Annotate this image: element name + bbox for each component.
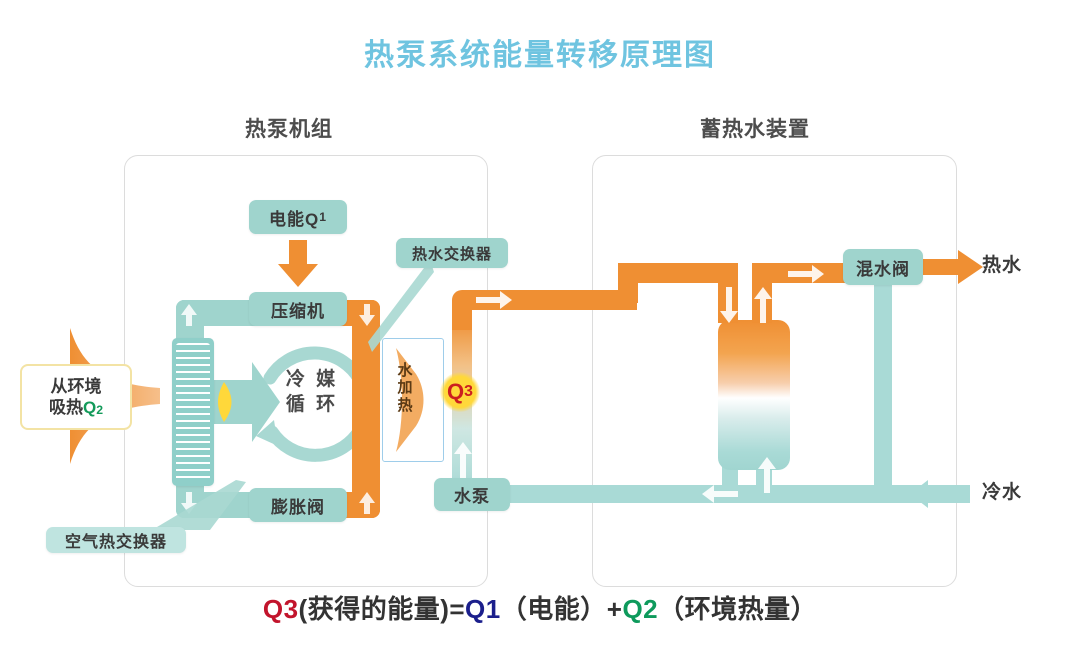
refrigerant-flow-arrow-top-left xyxy=(178,302,200,328)
hot-water-flow-arrow-2 xyxy=(786,262,826,286)
page-title: 热泵系统能量转移原理图 xyxy=(0,30,1080,74)
hot-water-exchanger-callout-line xyxy=(366,258,436,354)
formula-q2-paren: （环境热量） xyxy=(658,594,817,624)
q3-label: Q3 xyxy=(440,372,480,412)
q2-symbol: Q xyxy=(83,398,96,417)
electric-energy-down-arrow-icon xyxy=(277,240,319,288)
hot-water-label: 热水 xyxy=(982,250,1022,277)
formula-q3-paren: (获得的能量) xyxy=(299,594,450,624)
hot-water-storage-tank xyxy=(718,320,790,470)
air-heat-exchanger-coil xyxy=(172,338,214,486)
q3-badge: Q3 xyxy=(440,372,480,412)
return-flow-arrow-left xyxy=(700,482,740,506)
hot-water-output-arrow-icon xyxy=(922,249,984,285)
formula-equals: = xyxy=(449,594,465,624)
formula-q3: Q3 xyxy=(263,594,299,624)
formula-q2: Q2 xyxy=(622,594,658,624)
tank-outlet-up-arrow xyxy=(752,285,774,325)
water-pump-label: 水泵 xyxy=(434,478,510,511)
formula-plus: + xyxy=(607,594,623,624)
electric-energy-label: 电能Q1 xyxy=(249,200,347,234)
water-heating-label: 水加热 xyxy=(396,362,414,414)
mixing-valve-label: 混水阀 xyxy=(843,249,923,285)
expansion-valve-label: 膨胀阀 xyxy=(249,488,347,522)
environment-absorb-box: 从环境 吸热Q2 xyxy=(20,364,132,430)
mixing-valve-stem xyxy=(874,280,892,490)
refrigerant-cycle-label: 冷 媒 循 环 xyxy=(266,368,358,417)
cold-water-input-arrow-icon xyxy=(910,476,962,512)
formula-q1-paren: （电能） xyxy=(501,594,607,624)
cold-water-label: 冷水 xyxy=(982,477,1022,504)
diagram-canvas: 热泵系统能量转移原理图 热泵机组 蓄热水装置 冷 媒 循 环 xyxy=(0,0,1080,656)
cycle-label-line2: 循 环 xyxy=(266,393,358,418)
cycle-label-line1: 冷 媒 xyxy=(266,368,358,393)
q3-subscript: 3 xyxy=(464,383,473,401)
hot-water-flow-arrow-1 xyxy=(474,288,514,312)
hot-water-exchanger-label: 热水交换器 xyxy=(396,238,508,268)
env-absorb-line2: 吸热Q2 xyxy=(49,397,103,418)
air-heat-exchanger-label: 空气热交换器 xyxy=(46,527,186,553)
heat-pump-panel-heading: 热泵机组 xyxy=(245,113,333,143)
q1-subscript: 1 xyxy=(319,210,327,224)
compressor-label: 压缩机 xyxy=(249,292,347,326)
q2-subscript: 2 xyxy=(96,403,103,417)
coil-fins xyxy=(176,343,210,481)
tank-inlet-down-arrow xyxy=(718,285,740,325)
tank-panel-heading: 蓄热水装置 xyxy=(700,113,810,143)
return-flow-arrow-up xyxy=(756,455,778,495)
refrigerant-flow-arrow-bottom-right xyxy=(356,490,378,516)
env-absorb-line1: 从环境 xyxy=(51,376,102,397)
energy-formula: Q3(获得的能量)=Q1（电能）+Q2（环境热量） xyxy=(0,589,1080,626)
formula-q1: Q1 xyxy=(465,594,501,624)
